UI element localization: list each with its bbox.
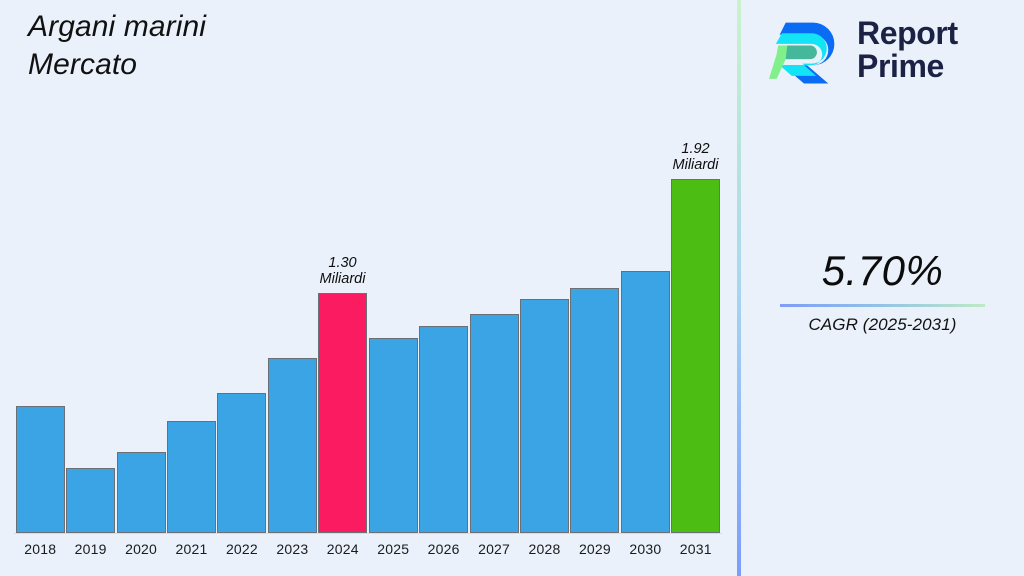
chart-panel: Argani marini Mercato 201820192020202120… xyxy=(0,0,738,576)
bar-fill-2024 xyxy=(318,293,367,533)
cagr-caption: CAGR (2025-2031) xyxy=(741,315,1024,335)
bar-2028 xyxy=(520,299,569,533)
x-axis-tick-2031: 2031 xyxy=(671,541,721,557)
report-prime-r-icon xyxy=(769,12,845,88)
cagr-block: 5.70% CAGR (2025-2031) xyxy=(741,250,1024,335)
bar-fill-2026 xyxy=(419,326,468,533)
x-axis-tick-2025: 2025 xyxy=(368,541,418,557)
bar-2025 xyxy=(369,338,418,533)
x-axis-tick-2018: 2018 xyxy=(15,541,65,557)
bar-value-label-2031: 1.92 Miliardi xyxy=(673,141,719,174)
bar-fill-2029 xyxy=(570,288,619,533)
side-panel: Report Prime 5.70% CAGR (2025-2031) xyxy=(741,0,1024,576)
infographic-page: Argani marini Mercato 201820192020202120… xyxy=(0,0,1024,576)
bar-fill-2021 xyxy=(167,421,216,533)
brand-name: Report Prime xyxy=(857,17,958,84)
bar-2018 xyxy=(16,406,65,533)
bar-2029 xyxy=(570,288,619,533)
bar-2020 xyxy=(117,452,166,533)
brand-logo: Report Prime xyxy=(769,12,958,88)
cagr-value: 5.70% xyxy=(741,250,1024,292)
bar-fill-2031 xyxy=(671,179,720,533)
bar-fill-2018 xyxy=(16,406,65,533)
x-axis-tick-2019: 2019 xyxy=(65,541,115,557)
bar-fill-2019 xyxy=(66,468,115,533)
bar-fill-2030 xyxy=(621,271,670,533)
x-axis-tick-2021: 2021 xyxy=(166,541,216,557)
bar-fill-2022 xyxy=(217,393,266,533)
bar-fill-2028 xyxy=(520,299,569,533)
x-axis-tick-2027: 2027 xyxy=(469,541,519,557)
bar-2027 xyxy=(470,314,519,533)
bar-fill-2020 xyxy=(117,452,166,533)
bar-fill-2027 xyxy=(470,314,519,533)
bar-2021 xyxy=(167,421,216,533)
bar-value-label-2024: 1.30 Miliardi xyxy=(320,255,366,288)
x-axis-tick-2028: 2028 xyxy=(519,541,569,557)
x-axis-tick-2023: 2023 xyxy=(267,541,317,557)
bar-fill-2025 xyxy=(369,338,418,533)
x-axis-tick-2024: 2024 xyxy=(318,541,368,557)
bar-2023 xyxy=(268,358,317,533)
bar-2031: 1.92 Miliardi xyxy=(671,179,720,533)
bar-chart-plot: 2018201920202021202220231.30 Miliardi202… xyxy=(0,0,738,576)
bar-2019 xyxy=(66,468,115,533)
bar-2026 xyxy=(419,326,468,533)
bar-2022 xyxy=(217,393,266,533)
bar-fill-2023 xyxy=(268,358,317,533)
x-axis-line xyxy=(14,533,722,534)
x-axis-tick-2030: 2030 xyxy=(620,541,670,557)
bar-2030 xyxy=(621,271,670,533)
bar-2024: 1.30 Miliardi xyxy=(318,293,367,533)
x-axis-tick-2026: 2026 xyxy=(418,541,468,557)
x-axis-tick-2020: 2020 xyxy=(116,541,166,557)
x-axis-tick-2029: 2029 xyxy=(570,541,620,557)
cagr-divider-rule xyxy=(780,304,985,307)
x-axis-tick-2022: 2022 xyxy=(217,541,267,557)
